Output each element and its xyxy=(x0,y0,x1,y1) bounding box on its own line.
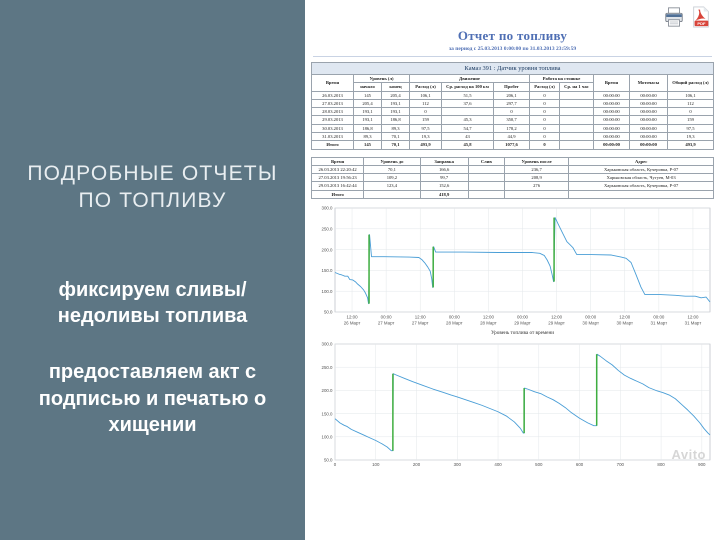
cell-move-consumption: 106,1 xyxy=(410,91,442,99)
cell-level-start: 186,8 xyxy=(354,124,382,132)
svg-text:31 Март: 31 Март xyxy=(685,320,702,325)
col-level-end: конец xyxy=(382,83,410,91)
col-level-start: начало xyxy=(354,83,382,91)
table-row: 31.03.2013 89,3 70,1 19,3 43 44,9 0 00:0… xyxy=(312,132,714,140)
cell-level-start: 193,1 xyxy=(354,108,382,116)
svg-text:28 Март: 28 Март xyxy=(480,320,497,325)
col-move-consumption: Расход (л) xyxy=(410,83,442,91)
cell-avg-hour xyxy=(560,108,594,116)
cell-avg-hour xyxy=(560,132,594,140)
cell-total: 97,5 xyxy=(667,124,713,132)
svg-text:100: 100 xyxy=(372,462,380,467)
cell-idle-time: 00:00:00 xyxy=(594,91,630,99)
events-header-row: Время Уровень до Заправка Слив Уровень п… xyxy=(312,157,714,165)
cell-level-after xyxy=(504,190,568,198)
cell-avg-100km: 43 xyxy=(442,132,494,140)
printer-icon[interactable] xyxy=(663,6,685,28)
table-row: 29.03.2013 193,1 186,8 159 45,3 350,7 0 … xyxy=(312,116,714,124)
report-panel: PDF Отчет по топливу за период с 25.03.2… xyxy=(305,0,720,540)
cell-engine-hours: 00:00:00 xyxy=(630,91,668,99)
svg-text:00:00: 00:00 xyxy=(585,314,597,319)
svg-text:0: 0 xyxy=(334,462,337,467)
col-event-time: Время xyxy=(312,157,364,165)
svg-text:800: 800 xyxy=(657,462,665,467)
cell-event-time: 26.03.2013 22:20:42 xyxy=(312,165,364,173)
svg-text:700: 700 xyxy=(617,462,625,467)
fuel-events-table: Время Уровень до Заправка Слив Уровень п… xyxy=(311,157,714,199)
col-idle-consumption: Расход (л) xyxy=(530,83,560,91)
report-subtitle: за период с 25.03.2013 0:00:00 по 31.03.… xyxy=(311,46,714,52)
main-table-caption: Камаз 391 : Датчик уровня топлива xyxy=(311,62,714,74)
svg-text:600: 600 xyxy=(576,462,584,467)
promo-heading-line1: ПОДРОБНЫЕ ОТЧЕТЫ xyxy=(10,160,295,187)
svg-text:300.0: 300.0 xyxy=(322,206,334,211)
svg-text:200: 200 xyxy=(413,462,421,467)
col-engine-hours: Моточасы xyxy=(630,75,668,92)
cell-avg-100km: 37,6 xyxy=(442,99,494,107)
col-drain: Слив xyxy=(468,157,504,165)
svg-text:31 Март: 31 Март xyxy=(651,320,668,325)
group-movement: Движение xyxy=(410,75,530,83)
col-idle-time: Время xyxy=(594,75,630,92)
svg-text:00:00: 00:00 xyxy=(449,314,461,319)
cell-move-consumption: 493,9 xyxy=(410,141,442,149)
svg-text:150.0: 150.0 xyxy=(322,411,334,416)
fuel-level-index-chart: 50.0100.0150.0200.0250.0300.001002003004… xyxy=(311,340,714,472)
svg-text:30 Март: 30 Март xyxy=(616,320,633,325)
svg-text:29 Март: 29 Март xyxy=(514,320,531,325)
promo-heading-line2: ПО ТОПЛИВУ xyxy=(10,187,295,214)
cell-mileage: 178,2 xyxy=(494,124,530,132)
events-table-body: 26.03.2013 22:20:42 70,1 166,6 236,7 Хар… xyxy=(312,165,714,198)
cell-total: 19,3 xyxy=(667,132,713,140)
slide-root: ПОДРОБНЫЕ ОТЧЕТЫ ПО ТОПЛИВУ фиксируем сл… xyxy=(0,0,720,540)
promo-heading: ПОДРОБНЫЕ ОТЧЕТЫ ПО ТОПЛИВУ xyxy=(10,160,295,215)
svg-text:900: 900 xyxy=(698,462,706,467)
cell-level-after: 208,9 xyxy=(504,174,568,182)
svg-text:00:00: 00:00 xyxy=(381,314,393,319)
cell-event-time: 29.03.2013 16:42:44 xyxy=(312,182,364,190)
cell-time: 26.03.2013 xyxy=(312,91,354,99)
main-table-body: 26.03.2013 145 205,4 106,1 51,5 206,1 0 … xyxy=(312,91,714,149)
cell-total: 0 xyxy=(667,108,713,116)
cell-idle-time: 00:00:00 xyxy=(594,124,630,132)
cell-idle-consumption: 0 xyxy=(530,116,560,124)
svg-text:50.0: 50.0 xyxy=(324,310,333,315)
title-divider xyxy=(313,56,712,57)
svg-text:100.0: 100.0 xyxy=(322,434,334,439)
cell-total: 112 xyxy=(667,99,713,107)
main-report-table: Время Уровень (л) Движение Работа на сто… xyxy=(311,74,714,150)
cell-time: 28.03.2013 xyxy=(312,108,354,116)
cell-mileage: 206,1 xyxy=(494,91,530,99)
cell-avg-100km: 45,3 xyxy=(442,116,494,124)
cell-level-after: 276 xyxy=(504,182,568,190)
cell-avg-100km: 45,8 xyxy=(442,141,494,149)
svg-text:500: 500 xyxy=(535,462,543,467)
fuel-level-time-chart: 50.0100.0150.0200.0250.0300.012:0026 Мар… xyxy=(311,204,714,336)
svg-text:26 Март: 26 Март xyxy=(344,320,361,325)
cell-level-end: 70,1 xyxy=(382,132,410,140)
cell-move-consumption: 112 xyxy=(410,99,442,107)
col-avg-per-hour: Ср. на 1 час xyxy=(560,83,594,91)
table-spacer xyxy=(311,150,714,157)
cell-level-end: 186,8 xyxy=(382,116,410,124)
cell-refuel: 166,6 xyxy=(420,165,468,173)
cell-mileage: 0 xyxy=(494,108,530,116)
pdf-icon[interactable]: PDF xyxy=(690,6,712,28)
cell-move-consumption: 19,3 xyxy=(410,132,442,140)
cell-mileage: 44,9 xyxy=(494,132,530,140)
cell-level-before: 109,2 xyxy=(364,174,420,182)
cell-idle-time: 00:00:00 xyxy=(594,99,630,107)
cell-address: Харьковская область, Кучеровка, Р-07 xyxy=(569,182,714,190)
table-row: 28.03.2013 193,1 193,1 0 0 0 00:00:00 00… xyxy=(312,108,714,116)
svg-text:29 Март: 29 Март xyxy=(548,320,565,325)
cell-move-consumption: 159 xyxy=(410,116,442,124)
col-mileage: Пробег xyxy=(494,83,530,91)
cell-idle-consumption: 0 xyxy=(530,124,560,132)
svg-text:100.0: 100.0 xyxy=(322,289,334,294)
table-row: 27.03.2013 19:56:23 109,2 99,7 208,9 Хар… xyxy=(312,174,714,182)
group-idle: Работа на стоянке xyxy=(530,75,594,83)
promo-bullet-2: предоставляем акт с подписью и печатью о… xyxy=(10,359,295,438)
cell-idle-time: 00:00:00 xyxy=(594,141,630,149)
cell-refuel: 418,9 xyxy=(420,190,468,198)
table-row: 26.03.2013 22:20:42 70,1 166,6 236,7 Хар… xyxy=(312,165,714,173)
cell-mileage: 297,7 xyxy=(494,99,530,107)
cell-drain xyxy=(468,174,504,182)
svg-text:50.0: 50.0 xyxy=(324,458,333,463)
cell-avg-100km: 54,7 xyxy=(442,124,494,132)
cell-time: 27.03.2013 xyxy=(312,99,354,107)
svg-text:27 Март: 27 Март xyxy=(378,320,395,325)
cell-idle-time: 00:00:00 xyxy=(594,108,630,116)
cell-level-before xyxy=(364,190,420,198)
cell-drain xyxy=(468,190,504,198)
svg-text:12:00: 12:00 xyxy=(619,314,631,319)
cell-level-start: 145 xyxy=(354,91,382,99)
col-level-before: Уровень до xyxy=(364,157,420,165)
table-row: 27.03.2013 205,4 193,1 112 37,6 297,7 0 … xyxy=(312,99,714,107)
cell-total-label: Итого xyxy=(312,141,354,149)
svg-text:00:00: 00:00 xyxy=(517,314,529,319)
svg-text:200.0: 200.0 xyxy=(322,247,334,252)
svg-text:400: 400 xyxy=(494,462,502,467)
cell-total: 106,1 xyxy=(667,91,713,99)
events-table-head: Время Уровень до Заправка Слив Уровень п… xyxy=(312,157,714,165)
svg-text:12:00: 12:00 xyxy=(687,314,699,319)
cell-engine-hours: 00:00:00 xyxy=(630,124,668,132)
cell-level-before: 123,4 xyxy=(364,182,420,190)
cell-engine-hours: 00:00:00 xyxy=(630,108,668,116)
cell-total: 159 xyxy=(667,116,713,124)
cell-address xyxy=(569,190,714,198)
report-title: Отчет по топливу xyxy=(311,28,714,44)
cell-level-end: 89,3 xyxy=(382,124,410,132)
col-refuel: Заправка xyxy=(420,157,468,165)
svg-text:28 Март: 28 Март xyxy=(446,320,463,325)
cell-idle-consumption: 0 xyxy=(530,132,560,140)
col-total-consumption: Общий расход (л) xyxy=(667,75,713,92)
cell-move-consumption: 97,5 xyxy=(410,124,442,132)
cell-avg-100km xyxy=(442,108,494,116)
cell-refuel: 152,6 xyxy=(420,182,468,190)
report-toolbar: PDF xyxy=(663,6,712,28)
cell-level-start: 205,4 xyxy=(354,99,382,107)
cell-idle-consumption: 0 xyxy=(530,141,560,149)
cell-mileage: 350,7 xyxy=(494,116,530,124)
table-total-row: Итого 418,9 xyxy=(312,190,714,198)
col-avg-per-100km: Ср. расход на 100 км xyxy=(442,83,494,91)
promo-panel: ПОДРОБНЫЕ ОТЧЕТЫ ПО ТОПЛИВУ фиксируем сл… xyxy=(0,0,305,540)
main-table-group-row: Время Уровень (л) Движение Работа на сто… xyxy=(312,75,714,83)
cell-idle-time: 00:00:00 xyxy=(594,132,630,140)
svg-text:300: 300 xyxy=(454,462,462,467)
svg-text:30 Март: 30 Март xyxy=(582,320,599,325)
cell-avg-100km: 51,5 xyxy=(442,91,494,99)
svg-text:12:00: 12:00 xyxy=(551,314,563,319)
cell-idle-time: 00:00:00 xyxy=(594,116,630,124)
cell-address: Харьковская область, Кучеровка, Р-07 xyxy=(569,165,714,173)
cell-level-start: 145 xyxy=(354,141,382,149)
promo-bullet-1: фиксируем сливы/ недоливы топлива xyxy=(10,277,295,330)
cell-total-label: Итого xyxy=(312,190,364,198)
col-level-after: Уровень после xyxy=(504,157,568,165)
cell-level-end: 70,1 xyxy=(382,141,410,149)
cell-level-after: 236,7 xyxy=(504,165,568,173)
cell-avg-hour xyxy=(560,99,594,107)
svg-text:250.0: 250.0 xyxy=(322,226,334,231)
cell-idle-consumption: 0 xyxy=(530,108,560,116)
cell-level-end: 193,1 xyxy=(382,99,410,107)
cell-mileage: 1077,6 xyxy=(494,141,530,149)
cell-avg-hour xyxy=(560,141,594,149)
cell-engine-hours: 00:00:00 xyxy=(630,99,668,107)
cell-level-start: 193,1 xyxy=(354,116,382,124)
svg-text:12:00: 12:00 xyxy=(483,314,495,319)
svg-text:12:00: 12:00 xyxy=(347,314,359,319)
cell-move-consumption: 0 xyxy=(410,108,442,116)
svg-text:PDF: PDF xyxy=(697,21,706,26)
svg-text:150.0: 150.0 xyxy=(322,268,334,273)
svg-text:12:00: 12:00 xyxy=(415,314,427,319)
cell-engine-hours: 00:00:00 xyxy=(630,116,668,124)
svg-text:00:00: 00:00 xyxy=(653,314,665,319)
svg-text:Уровень топлива от времени: Уровень топлива от времени xyxy=(491,330,554,336)
cell-engine-hours: 00:00:00 xyxy=(630,141,668,149)
group-level: Уровень (л) xyxy=(354,75,410,83)
svg-text:250.0: 250.0 xyxy=(322,365,334,370)
cell-avg-hour xyxy=(560,91,594,99)
cell-idle-consumption: 0 xyxy=(530,91,560,99)
table-row: 26.03.2013 145 205,4 106,1 51,5 206,1 0 … xyxy=(312,91,714,99)
cell-level-end: 205,4 xyxy=(382,91,410,99)
cell-level-start: 89,3 xyxy=(354,132,382,140)
cell-avg-hour xyxy=(560,124,594,132)
cell-time: 30.03.2013 xyxy=(312,124,354,132)
cell-time: 29.03.2013 xyxy=(312,116,354,124)
cell-event-time: 27.03.2013 19:56:23 xyxy=(312,174,364,182)
col-time: Время xyxy=(312,75,354,92)
cell-level-end: 193,1 xyxy=(382,108,410,116)
table-total-row: Итого 145 70,1 493,9 45,8 1077,6 0 00:00… xyxy=(312,141,714,149)
cell-total: 493,9 xyxy=(667,141,713,149)
cell-level-before: 70,1 xyxy=(364,165,420,173)
cell-address: Харьковская область, Чугуев, М-03 xyxy=(569,174,714,182)
cell-time: 31.03.2013 xyxy=(312,132,354,140)
svg-text:200.0: 200.0 xyxy=(322,388,334,393)
cell-avg-hour xyxy=(560,116,594,124)
table-row: 29.03.2013 16:42:44 123,4 152,6 276 Харь… xyxy=(312,182,714,190)
table-row: 30.03.2013 186,8 89,3 97,5 54,7 178,2 0 … xyxy=(312,124,714,132)
main-table-head: Время Уровень (л) Движение Работа на сто… xyxy=(312,75,714,92)
svg-text:300.0: 300.0 xyxy=(322,342,334,347)
cell-idle-consumption: 0 xyxy=(530,99,560,107)
cell-refuel: 99,7 xyxy=(420,174,468,182)
cell-engine-hours: 00:00:00 xyxy=(630,132,668,140)
col-address: Адрес xyxy=(569,157,714,165)
svg-text:27 Март: 27 Март xyxy=(412,320,429,325)
cell-drain xyxy=(468,182,504,190)
cell-drain xyxy=(468,165,504,173)
